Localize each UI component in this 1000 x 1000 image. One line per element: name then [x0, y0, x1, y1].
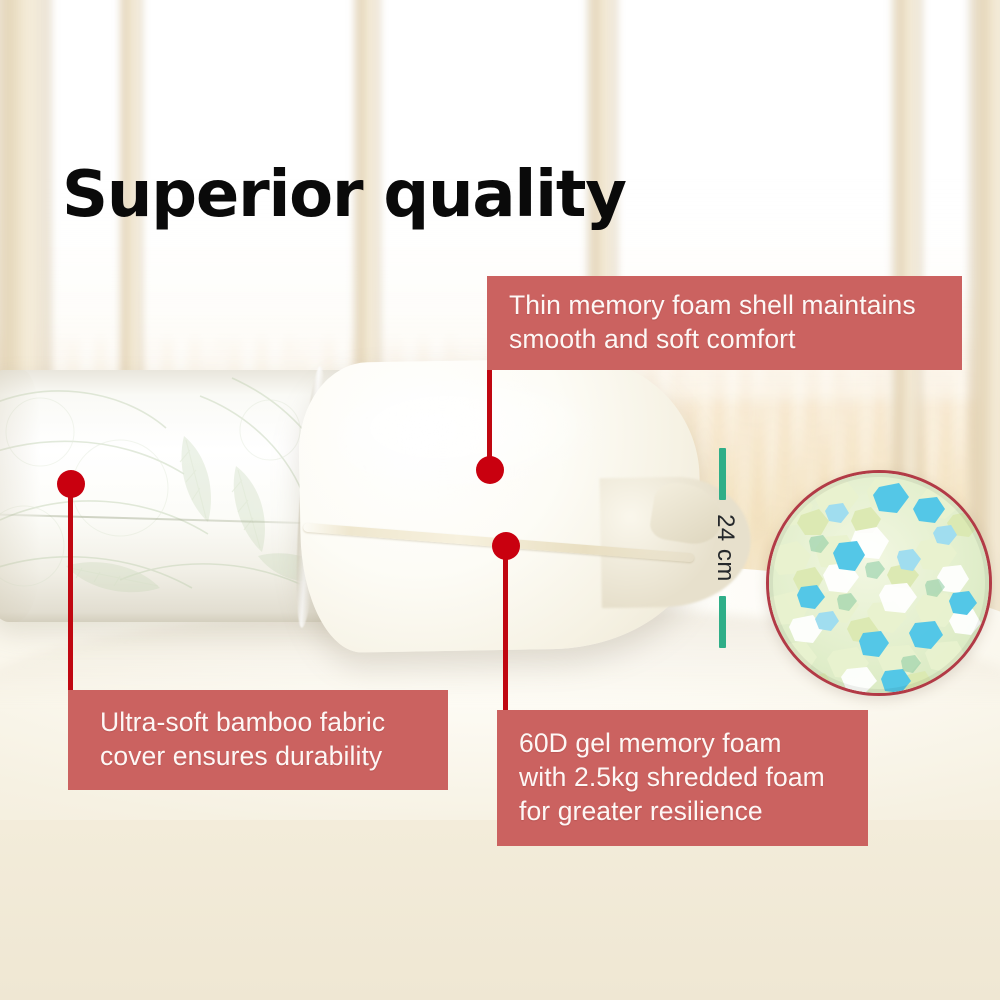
- pillow-product: [0, 360, 700, 660]
- shell-highlight: [338, 380, 600, 495]
- infographic-canvas: 24 cm: [0, 0, 1000, 1000]
- callout-dot-middle: [492, 532, 520, 560]
- callout-dot-left: [57, 470, 85, 498]
- callout-left-line-2: cover ensures durability: [100, 740, 448, 774]
- measure-bar-top: [719, 448, 726, 500]
- shredded-foam-illustration: [767, 471, 991, 695]
- connector-line-top: [487, 370, 492, 470]
- measurement-label: 24 cm: [711, 514, 739, 582]
- measure-bar-bottom: [719, 596, 726, 648]
- connector-line-left: [68, 494, 73, 692]
- callout-bottom-line-2: with 2.5kg shredded foam: [519, 761, 868, 795]
- page-title: Superior quality: [62, 163, 626, 227]
- callout-box-bamboo-cover: Ultra-soft bamboo fabric cover ensures d…: [68, 690, 448, 790]
- memory-foam-shell: [297, 357, 702, 654]
- callout-left-line-1: Ultra-soft bamboo fabric: [100, 706, 448, 740]
- callout-bottom-line-3: for greater resilience: [519, 795, 868, 829]
- callout-top-line-1: Thin memory foam shell maintains: [509, 289, 962, 323]
- mattress-foreground: [0, 820, 1000, 1000]
- callout-bottom-line-1: 60D gel memory foam: [519, 727, 868, 761]
- callout-top-line-2: smooth and soft comfort: [509, 323, 962, 357]
- callout-box-memory-foam-shell: Thin memory foam shell maintains smooth …: [487, 276, 962, 370]
- callout-dot-top: [476, 456, 504, 484]
- callout-box-gel-memory-foam: 60D gel memory foam with 2.5kg shredded …: [497, 710, 868, 846]
- tube-left-shading: [0, 370, 40, 622]
- gel-foam-closeup-inset: [766, 470, 992, 696]
- connector-line-middle: [503, 556, 508, 712]
- height-measurement: 24 cm: [708, 448, 742, 648]
